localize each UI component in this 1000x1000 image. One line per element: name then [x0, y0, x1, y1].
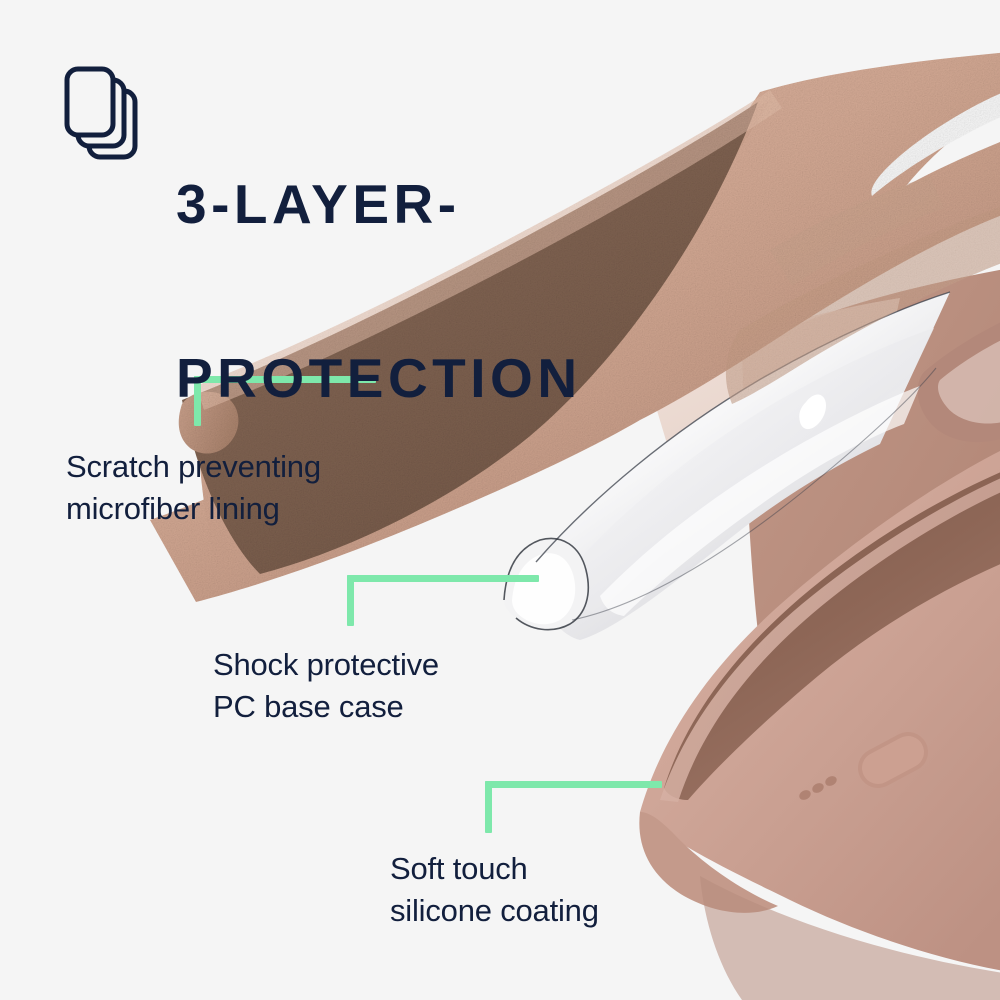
callout-label-pc-base: Shock protective PC base case — [213, 644, 439, 727]
connector-horizontal-segment — [347, 575, 539, 582]
title-line-1: 3-LAYER- — [176, 175, 582, 233]
callout-label-microfiber: Scratch preventing microfiber lining — [66, 446, 321, 529]
connector-vertical-segment — [347, 575, 354, 626]
connector-horizontal-segment — [485, 781, 662, 788]
connector-vertical-segment — [485, 781, 492, 833]
infographic-canvas: 3-LAYER- PROTECTION Scratch preventing m… — [0, 0, 1000, 1000]
layers-stack-icon — [62, 64, 154, 168]
title-line-2: PROTECTION — [176, 349, 582, 407]
callout-label-silicone: Soft touch silicone coating — [390, 848, 599, 931]
